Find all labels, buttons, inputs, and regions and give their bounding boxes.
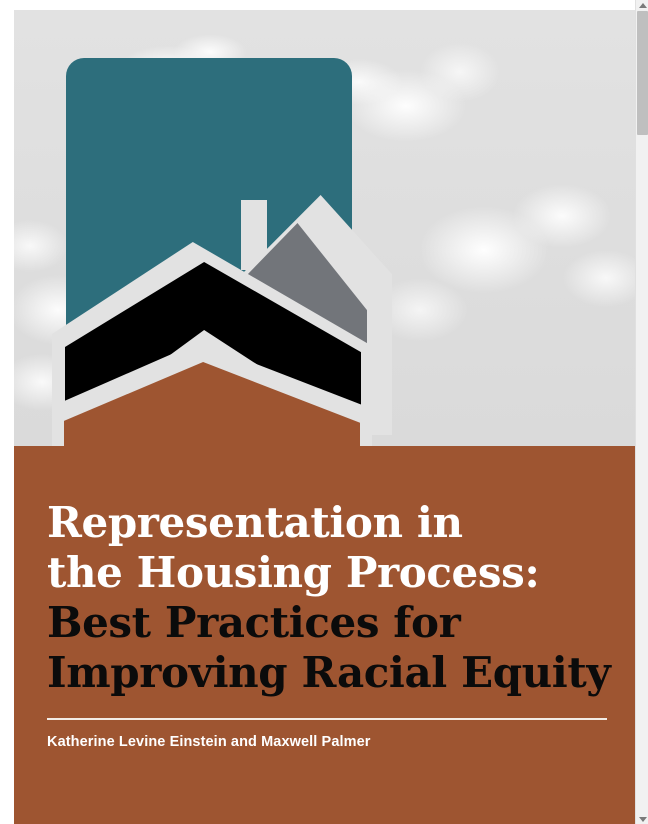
triangle-down-icon — [639, 817, 647, 822]
house-logo — [14, 10, 635, 456]
pdf-page-1: Representation in the Housing Process: B… — [14, 10, 635, 824]
page-title: Representation in the Housing Process: B… — [47, 498, 617, 698]
title-line-3: Best Practices for — [47, 598, 617, 648]
title-divider — [47, 718, 607, 720]
title-band: Representation in the Housing Process: B… — [14, 446, 635, 824]
document-viewer[interactable]: Representation in the Housing Process: B… — [0, 0, 648, 824]
scroll-down-button[interactable] — [636, 814, 648, 824]
title-line-2: the Housing Process: — [47, 548, 617, 598]
scrollbar-thumb[interactable] — [637, 11, 648, 135]
title-line-4: Improving Racial Equity — [47, 648, 617, 698]
title-line-1: Representation in — [47, 498, 617, 548]
scroll-up-button[interactable] — [636, 0, 648, 10]
vertical-scrollbar[interactable] — [635, 0, 648, 824]
author-byline: Katherine Levine Einstein and Maxwell Pa… — [47, 734, 371, 750]
triangle-up-icon — [639, 3, 647, 8]
